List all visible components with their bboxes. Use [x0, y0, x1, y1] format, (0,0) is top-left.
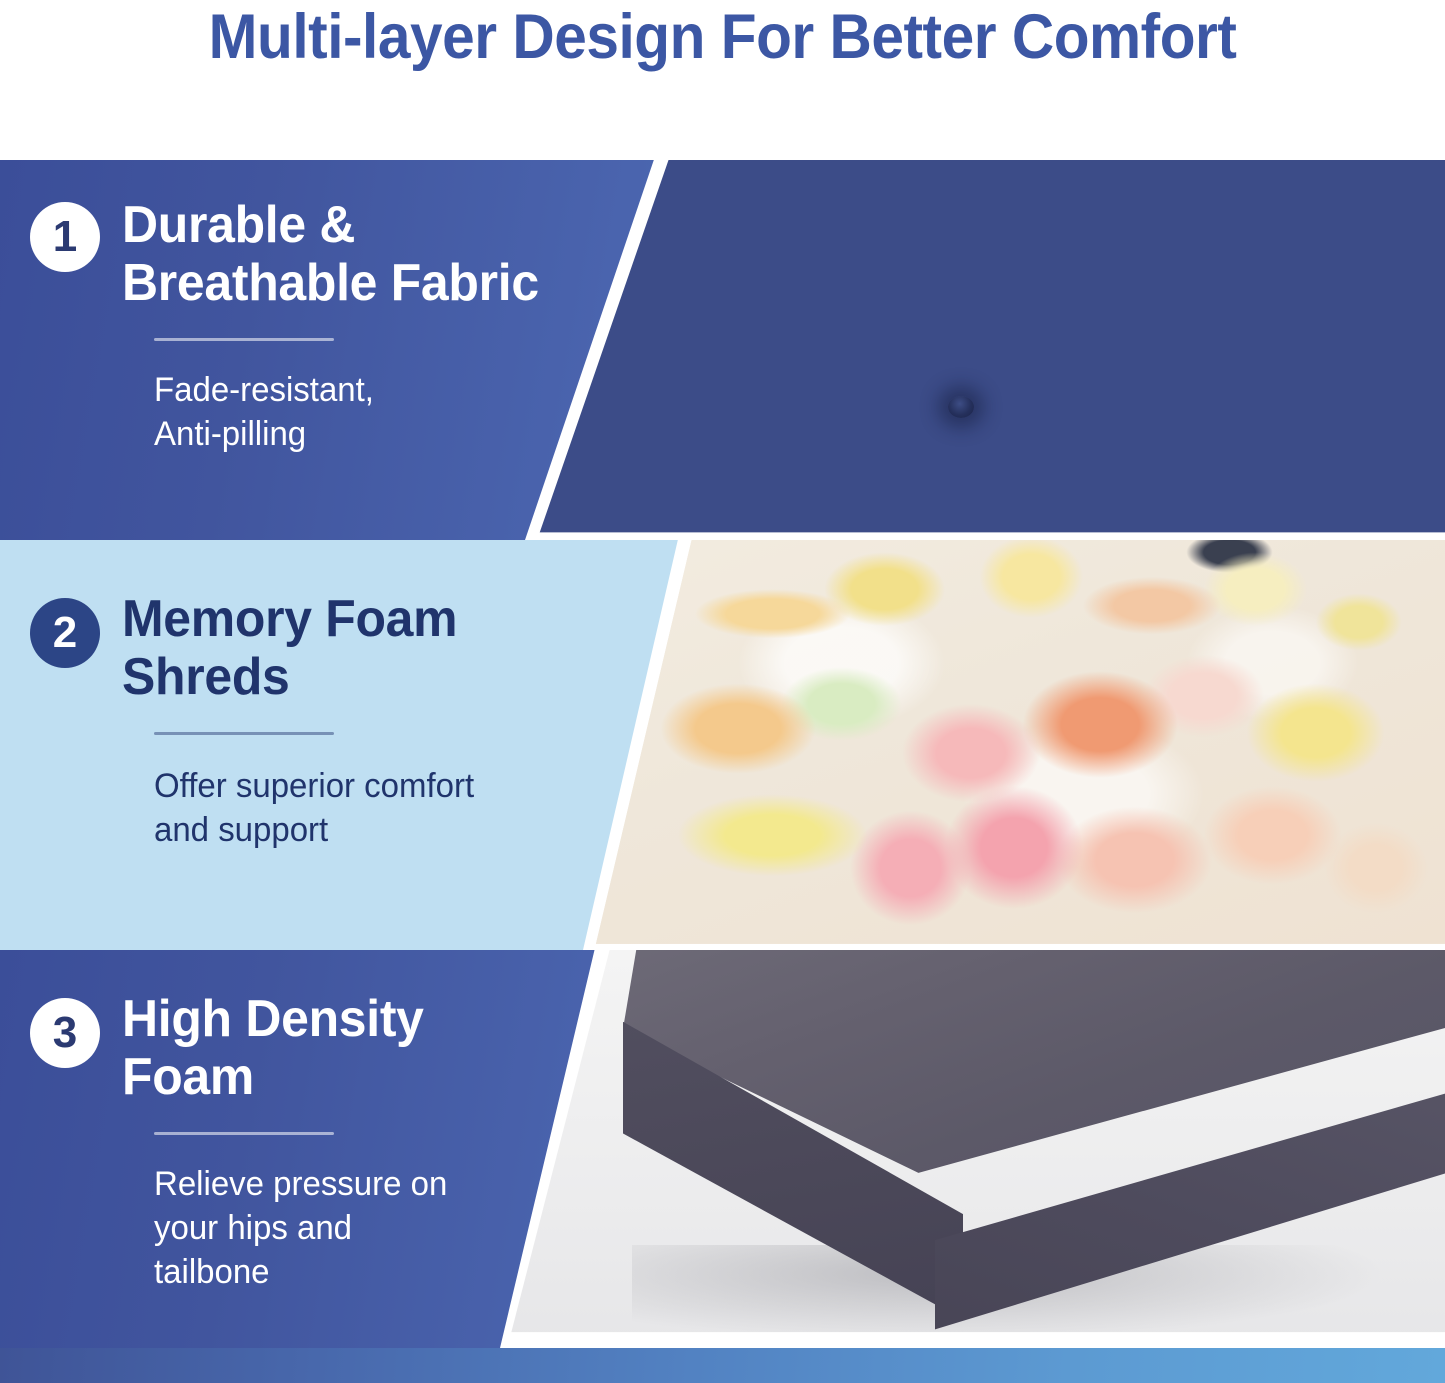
- panel-2-divider: [154, 732, 334, 735]
- panel-2-number-badge: 2: [30, 598, 100, 668]
- title-bar: Multi-layer Design For Better Comfort: [0, 0, 1445, 160]
- fabric-closeup-image: [525, 160, 1445, 540]
- panel-1-heading-row: 1 Durable &Breathable Fabric: [30, 202, 640, 312]
- panel-1-number-badge: 1: [30, 202, 100, 272]
- panel-1-content: 1 Durable &Breathable Fabric Fade-resist…: [0, 160, 640, 540]
- panel-2-heading: Memory FoamShreds: [122, 590, 457, 706]
- panel-2-image-area: [583, 540, 1445, 950]
- panel-1-subtext: Fade-resistant,Anti-pilling: [154, 369, 625, 456]
- fabric-tuft-button-icon: [948, 396, 974, 418]
- high-density-foam-image: [500, 950, 1445, 1348]
- feature-panel-1: 1 Durable &Breathable Fabric Fade-resist…: [0, 160, 1445, 540]
- panel-1-heading: Durable &Breathable Fabric: [122, 196, 539, 312]
- panel-2-content: 2 Memory FoamShreds Offer superior comfo…: [0, 540, 640, 950]
- memory-foam-shreds-image: [583, 540, 1445, 950]
- panel-3-content: 3 High DensityFoam Relieve pressure onyo…: [0, 950, 640, 1348]
- page-title: Multi-layer Design For Better Comfort: [209, 0, 1237, 69]
- bottom-accent-strip: [0, 1348, 1445, 1383]
- panel-3-heading: High DensityFoam: [122, 990, 424, 1106]
- panel-1-image-area: [525, 160, 1445, 540]
- feature-panel-2: 2 Memory FoamShreds Offer superior comfo…: [0, 540, 1445, 950]
- panel-3-image-area: [500, 950, 1445, 1348]
- panel-1-divider: [154, 338, 334, 341]
- feature-panel-3: 3 High DensityFoam Relieve pressure onyo…: [0, 950, 1445, 1348]
- panel-3-subtext: Relieve pressure onyour hips andtailbone: [154, 1163, 625, 1294]
- panel-3-number-badge: 3: [30, 998, 100, 1068]
- panel-2-subtext: Offer superior comfortand support: [154, 765, 625, 852]
- panel-3-heading-row: 3 High DensityFoam: [30, 998, 640, 1106]
- panel-2-heading-row: 2 Memory FoamShreds: [30, 598, 640, 706]
- panel-3-divider: [154, 1132, 334, 1135]
